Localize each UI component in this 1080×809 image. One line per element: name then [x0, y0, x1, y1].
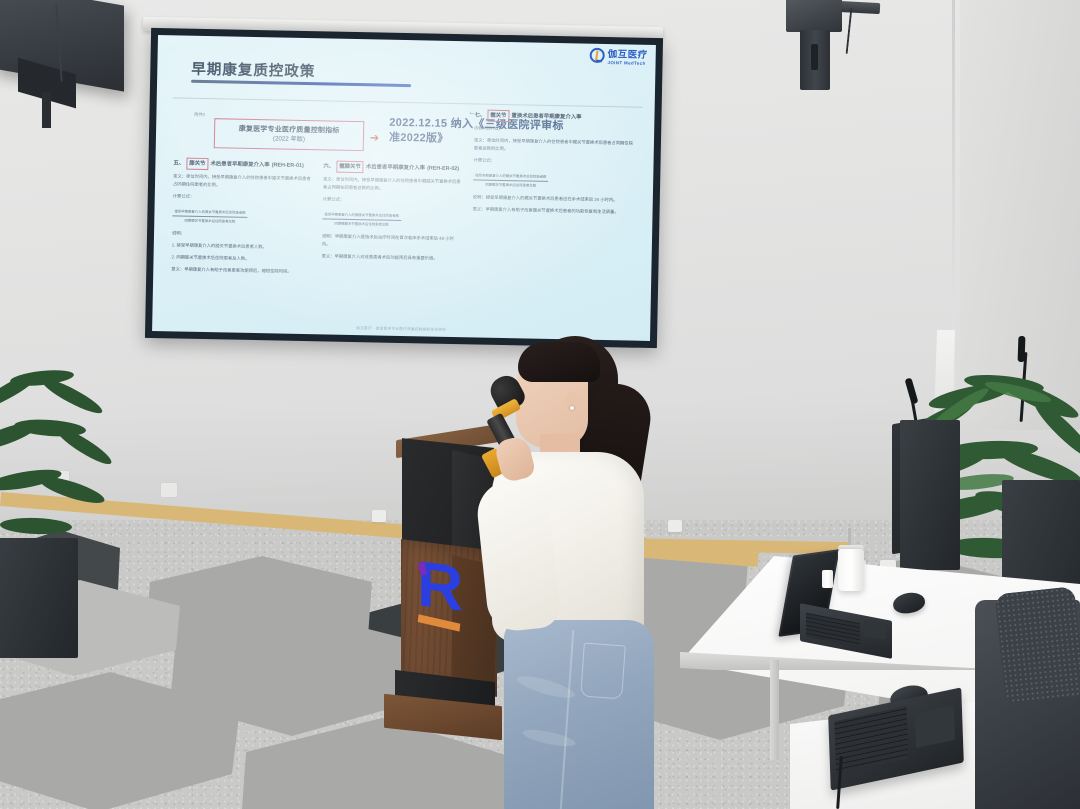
laptop-keyboard-secondary[interactable] — [834, 706, 908, 774]
indicator-formula-3: 接受早期康复介入的髋关节置换术后住院患者数 同期髋关节置换术后住院患者总数 — [473, 172, 549, 189]
brand-name-en: JOINT MedTech — [607, 60, 647, 66]
table-leg — [770, 660, 779, 760]
indicator-code-3: (REH-ER-03) — [474, 124, 634, 135]
indicator-column-3: 七、 髋关节 置换术后患者早期康复介入率 (REH-ER-03) 定义：单位时间… — [472, 109, 634, 220]
podium-logo: R — [417, 553, 463, 643]
projector-rail — [838, 1, 881, 14]
indicator-code-2: (REH-ER-02) — [427, 163, 459, 174]
indicator-para: 定义：单位时间内，接受早期康复介入的住院患者中髋关节置换术后患者占同期住院患者总… — [474, 136, 634, 155]
indicator-formula-2: 接受早期康复介入的髋膝关节置换术后住院患者数 同期髋膝关节置换术后住院患者总数 — [322, 211, 401, 228]
indicator-para: 定义：单位时间内，接受早期康复介入的住院患者中膝关节置换术后患者占同期住院患者的… — [173, 172, 311, 191]
indicator-index-3: 七、 — [474, 110, 485, 120]
jeans-back-pocket — [580, 643, 626, 700]
indicator-para: 计算公式： — [173, 192, 311, 203]
indicator-para: 意义：早期康复介入有助于改善患者功能预后，缩短住院时间。 — [171, 266, 309, 277]
laptop-trackpad-secondary[interactable] — [915, 705, 955, 748]
indicator-para: 意义：早期康复介入有助于改善髋关节置换术后患者的功能恢复和生活质量。 — [473, 206, 633, 217]
planter-box-left — [900, 420, 960, 570]
formula-denominator: 同期髋关节置换术后住院患者总数 — [473, 180, 548, 189]
projector-mount-arm — [800, 30, 830, 90]
office-chair-mesh-back — [994, 586, 1080, 704]
earring — [570, 406, 574, 410]
indicator-formula-1: 接受早期康复介入的膝关节置换术后住院患者数 同期膝关节置换术后住院患者总数 — [172, 208, 248, 225]
indicator-para: 说明：接受早期康复介入的髋关节置换术后患者应在手术结束后 24 小时内。 — [473, 194, 633, 205]
projection-screen-surface: 伽互医疗 JOINT MedTech 早期康复质控政策 附件2 康复医学专业医疗… — [152, 35, 656, 341]
indicator-para: 意义：早期康复介入对改善患者术后功能预后具有重要价值。 — [322, 253, 462, 264]
wall-plate — [160, 482, 178, 498]
indicator-heading-rest-1: 术后患者早期康复介入率 — [210, 159, 270, 170]
indicator-para: 2. 同期膝关节置换术后住院患者总人数。 — [171, 254, 309, 265]
indicator-para: 计算公式： — [323, 195, 463, 206]
planter-box-left-floor — [0, 538, 78, 658]
projection-screen: 伽互医疗 JOINT MedTech 早期康复质控政策 附件2 康复医学专业医疗… — [145, 28, 663, 348]
projector-ceiling-mount — [786, 0, 842, 32]
denim-jeans — [504, 620, 654, 809]
small-cup — [822, 570, 833, 588]
joint-medtech-logo-icon — [590, 48, 605, 63]
indicator-para: 说明：早期康复介入是指术后治疗时间在首次临床手术结束后 48 小时内。 — [322, 233, 462, 252]
brand-name-cn: 伽互医疗 — [608, 46, 648, 61]
presenter — [470, 330, 680, 809]
indicator-document-box: 康复医学专业医疗质量控制指标 (2022 年版) — [214, 118, 365, 151]
formula-denominator: 同期髋膝关节置换术后住院患者总数 — [322, 219, 401, 228]
display-mount-arm — [42, 92, 51, 128]
document-title-line2: (2022 年版) — [273, 135, 305, 144]
indicator-para: 定义：单位时间内，接受早期康复介入的住院患者中髋膝关节置换术后患者占同期住院患者… — [323, 175, 463, 194]
presentation-room-photo: 伽互医疗 JOINT MedTech 早期康复质控政策 附件2 康复医学专业医疗… — [0, 0, 1080, 809]
indicator-highlight-1: 膝关节 — [186, 158, 208, 170]
indicator-heading-rest-2: 术后患者早期康复介入率 — [366, 162, 426, 173]
indicator-highlight-3: 髋关节 — [487, 110, 509, 122]
indicator-heading-3: 七、 髋关节 置换术后患者早期康复介入率 — [474, 109, 634, 124]
attachment-label: 附件2 — [194, 112, 205, 118]
indicator-para: 说明： — [172, 230, 310, 241]
presentation-slide: 伽互医疗 JOINT MedTech 早期康复质控政策 附件2 康复医学专业医疗… — [152, 35, 656, 341]
insulated-tumbler-cup — [838, 549, 864, 591]
indicator-index-1: 五、 — [173, 158, 184, 168]
indicator-para: 计算公式： — [473, 156, 633, 167]
wall-outlet — [372, 510, 386, 522]
slide-title: 早期康复质控政策 — [191, 58, 315, 81]
indicator-para: 1. 接受早期康复介入的膝关节置换术后患者人数。 — [172, 242, 310, 253]
formula-denominator: 同期膝关节置换术后住院患者总数 — [172, 216, 247, 225]
hair-fringe — [518, 342, 600, 382]
title-divider — [173, 97, 643, 107]
indicator-highlight-2: 髋膝关节 — [336, 161, 364, 174]
indicator-column-2: 六、 髋膝关节 术后患者早期康复介入率 (REH-ER-02) 定义：单位时间内… — [321, 160, 463, 267]
indicator-heading-2: 六、 髋膝关节 术后患者早期康复介入率 (REH-ER-02) — [323, 160, 463, 175]
arrow-right-icon: ➔ — [370, 131, 379, 144]
indicator-column-1: 五、 膝关节 术后患者早期康复介入率 (REH-ER-01) 定义：单位时间内，… — [171, 157, 311, 280]
brand-logo: 伽互医疗 JOINT MedTech — [589, 46, 647, 66]
indicator-code-1: (REH-ER-01) — [272, 160, 304, 171]
indicator-index-2: 六、 — [323, 161, 334, 171]
indicator-heading-rest-3: 置换术后患者早期康复介入率 — [511, 111, 581, 122]
indicator-heading-1: 五、 膝关节 术后患者早期康复介入率 (REH-ER-01) — [173, 157, 311, 172]
